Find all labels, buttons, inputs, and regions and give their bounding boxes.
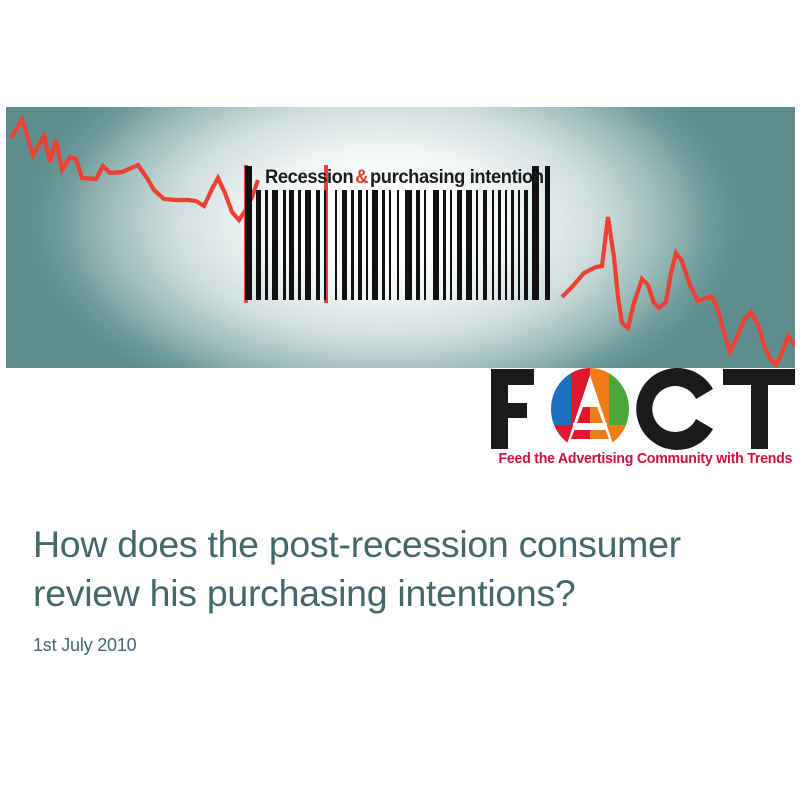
barcode-label-suffix: purchasing intention bbox=[370, 166, 544, 189]
page-title-line-2: review his purchasing intentions? bbox=[33, 572, 576, 614]
logo-letter-t bbox=[723, 369, 795, 449]
page-title: How does the post-recession consumer rev… bbox=[33, 520, 763, 618]
fact-logo-mark bbox=[491, 367, 795, 451]
presentation-date: 1st July 2010 bbox=[33, 634, 763, 656]
barcode-graphic: Recession & purchasing intention bbox=[243, 164, 560, 300]
logo-letter-f bbox=[491, 369, 534, 449]
logo-letter-c bbox=[636, 368, 713, 450]
fact-logo: Feed the Advertising Community with Tren… bbox=[491, 367, 795, 477]
barcode-label: Recession & purchasing intention bbox=[265, 164, 524, 190]
fact-logo-tagline: Feed the Advertising Community with Tren… bbox=[499, 451, 790, 467]
title-block: How does the post-recession consumer rev… bbox=[33, 520, 763, 656]
barcode-label-prefix: Recession bbox=[265, 166, 353, 189]
logo-letter-a bbox=[551, 368, 630, 450]
page-title-line-1: How does the post-recession consumer bbox=[33, 523, 681, 565]
barcode-label-ampersand: & bbox=[353, 166, 370, 189]
